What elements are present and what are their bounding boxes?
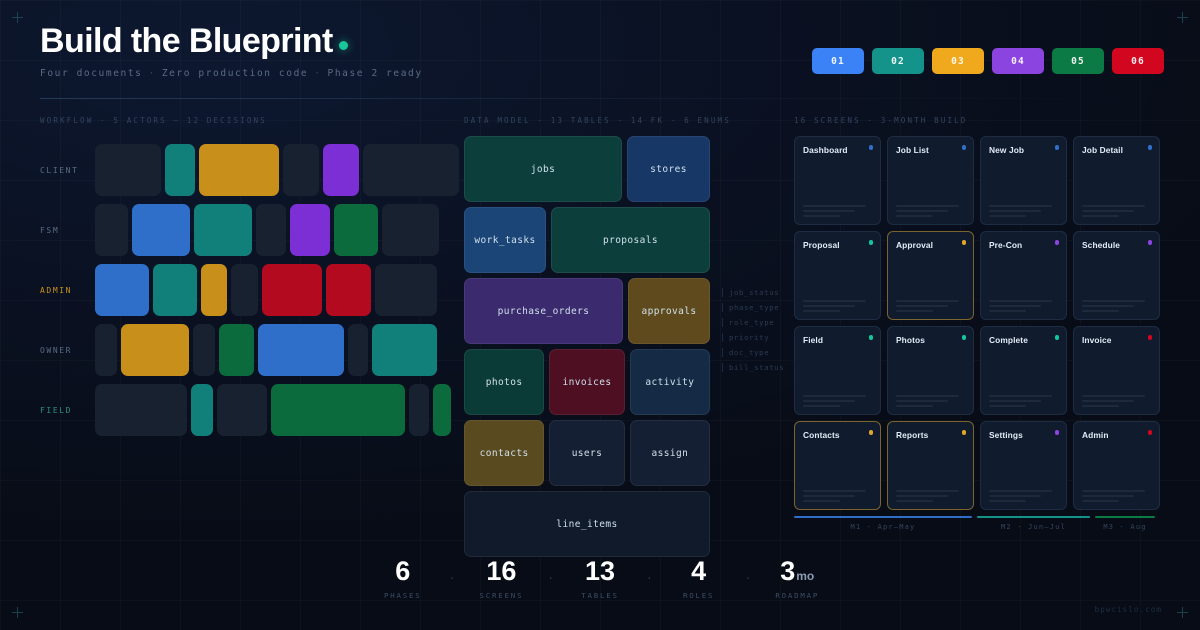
screen-card-photos[interactable]: Photos [887, 326, 974, 415]
status-dot-icon [1148, 240, 1153, 245]
skeleton-line [803, 405, 840, 407]
screen-card-title: Invoice [1082, 335, 1151, 345]
lane-step-block[interactable] [121, 324, 189, 376]
screen-card-schedule[interactable]: Schedule [1073, 231, 1160, 320]
poster-canvas: Build the Blueprint Four documents·Zero … [0, 0, 1200, 630]
stat-caption: PHASES [384, 591, 422, 600]
lane-gap-block [95, 144, 161, 196]
lane-label: ADMIN [40, 286, 95, 295]
stat-caption: ROADMAP [775, 591, 819, 600]
data-model-row: purchase_ordersapprovals [464, 278, 710, 344]
workflow-lane-admin: ADMIN [40, 260, 444, 320]
table-card-assign[interactable]: assign [630, 420, 710, 486]
skeleton-line [896, 310, 933, 312]
screen-card-skeleton [1082, 205, 1151, 217]
phase-chip-04[interactable]: 04 [992, 48, 1044, 74]
screen-card-new-job[interactable]: New Job [980, 136, 1067, 225]
corner-mark-top-right [1177, 12, 1188, 23]
screens-grid: DashboardJob ListNew JobJob DetailPropos… [794, 136, 1160, 510]
skeleton-line [989, 215, 1026, 217]
skeleton-line [1082, 215, 1119, 217]
screen-card-title: Job List [896, 145, 965, 155]
skeleton-line [803, 210, 855, 212]
stat-separator: · [646, 558, 653, 585]
skeleton-line [896, 205, 959, 207]
lane-step-block[interactable] [191, 384, 213, 436]
screen-card-skeleton [896, 490, 965, 502]
subtitle-separator: · [314, 68, 321, 79]
data-model-row: line_items [464, 491, 710, 557]
corner-mark-bottom-left [12, 607, 23, 618]
screen-card-complete[interactable]: Complete [980, 326, 1067, 415]
skeleton-line [896, 305, 948, 307]
enum-item-role_type: role_type [722, 318, 784, 327]
lane-step-block[interactable] [262, 264, 322, 316]
phase-chip-03[interactable]: 03 [932, 48, 984, 74]
screen-card-title: Dashboard [803, 145, 872, 155]
lane-step-block[interactable] [290, 204, 330, 256]
status-dot-icon [869, 240, 874, 245]
roadmap-timeline: M1 · Apr–MayM2 · Jun–JulM3 · Aug [794, 516, 1160, 531]
lane-track [95, 384, 451, 436]
workflow-section-caption: WORKFLOW · 5 ACTORS — 12 DECISIONS [40, 116, 267, 125]
skeleton-line [989, 305, 1041, 307]
screen-card-invoice[interactable]: Invoice [1073, 326, 1160, 415]
phase-chip-02[interactable]: 02 [872, 48, 924, 74]
screen-card-skeleton [896, 395, 965, 407]
subtitle-separator: · [148, 68, 155, 79]
skeleton-line [989, 395, 1052, 397]
skeleton-line [989, 210, 1041, 212]
skeleton-line [896, 495, 948, 497]
screen-card-skeleton [989, 490, 1058, 502]
phase-chip-05[interactable]: 05 [1052, 48, 1104, 74]
lane-step-block[interactable] [153, 264, 197, 316]
screen-card-title: Approval [896, 240, 965, 250]
status-dot-icon [1055, 430, 1060, 435]
skeleton-line [989, 495, 1041, 497]
screen-card-title: Complete [989, 335, 1058, 345]
skeleton-line [1082, 490, 1145, 492]
table-card-activity[interactable]: activity [630, 349, 710, 415]
lane-gap-block [348, 324, 368, 376]
data-model-row: jobsstores [464, 136, 710, 202]
lane-gap-block [382, 204, 439, 256]
stat-roles: 4ROLES [653, 558, 745, 600]
workflow-swimlanes: CLIENTFSMADMINOWNERFIELD [40, 140, 444, 440]
screen-card-skeleton [1082, 490, 1151, 502]
skeleton-line [896, 395, 959, 397]
status-dot-icon [1148, 335, 1153, 340]
screen-card-admin[interactable]: Admin [1073, 421, 1160, 510]
lane-gap-block [363, 144, 459, 196]
summary-stats: 6PHASES·16SCREENS·13TABLES·4ROLES·3moROA… [0, 558, 1200, 600]
screen-card-reports[interactable]: Reports [887, 421, 974, 510]
screen-card-title: Pre-Con [989, 240, 1058, 250]
screen-card-contacts[interactable]: Contacts [794, 421, 881, 510]
stat-roadmap: 3moROADMAP [751, 558, 843, 600]
table-card-work_tasks[interactable]: work_tasks [464, 207, 546, 273]
enum-item-priority: priority [722, 333, 784, 342]
skeleton-line [1082, 300, 1145, 302]
status-dot-icon [1148, 430, 1153, 435]
table-card-contacts[interactable]: contacts [464, 420, 544, 486]
screen-card-skeleton [803, 300, 872, 312]
timeline-bar [1095, 516, 1155, 518]
screens-section-caption: 16 SCREENS · 3-MONTH BUILD [794, 116, 967, 125]
stat-caption: ROLES [683, 591, 714, 600]
lane-step-block[interactable] [271, 384, 405, 436]
lane-step-block[interactable] [326, 264, 371, 316]
stat-value: 13 [585, 558, 615, 585]
table-card-approvals[interactable]: approvals [628, 278, 710, 344]
screen-card-job-list[interactable]: Job List [887, 136, 974, 225]
status-dot-icon [869, 145, 874, 150]
timeline-label: M2 · Jun–Jul [977, 523, 1090, 531]
table-card-purchase_orders[interactable]: purchase_orders [464, 278, 623, 344]
lane-label: FSM [40, 226, 95, 235]
skeleton-line [803, 310, 840, 312]
skeleton-line [989, 405, 1026, 407]
skeleton-line [989, 300, 1052, 302]
phase-chip-list: 010203040506 [812, 48, 1164, 74]
workflow-lane-client: CLIENT [40, 140, 444, 200]
stat-caption: TABLES [581, 591, 619, 600]
screen-card-title: Admin [1082, 430, 1151, 440]
skeleton-line [1082, 210, 1134, 212]
header-divider [40, 98, 1160, 99]
lane-gap-block [409, 384, 429, 436]
enum-item-phase_type: phase_type [722, 303, 784, 312]
timeline-bar [977, 516, 1090, 518]
watermark: bpwcislo.com [1095, 605, 1162, 614]
lane-step-block[interactable] [194, 204, 252, 256]
lane-gap-block [95, 324, 117, 376]
screen-card-skeleton [989, 395, 1058, 407]
table-card-photos[interactable]: photos [464, 349, 544, 415]
lane-gap-block [95, 204, 128, 256]
screen-card-job-detail[interactable]: Job Detail [1073, 136, 1160, 225]
lane-step-block[interactable] [201, 264, 227, 316]
screen-card-skeleton [989, 205, 1058, 217]
timeline-segment: M3 · Aug [1095, 516, 1155, 531]
data-model-row: photosinvoicesactivity [464, 349, 710, 415]
data-model-row: contactsusersassign [464, 420, 710, 486]
lane-label: OWNER [40, 346, 95, 355]
skeleton-line [1082, 405, 1119, 407]
status-dot-icon [1055, 145, 1060, 150]
skeleton-line [896, 300, 959, 302]
stat-caption: SCREENS [480, 591, 524, 600]
lane-step-block[interactable] [165, 144, 195, 196]
lane-label: FIELD [40, 406, 95, 415]
skeleton-line [1082, 205, 1145, 207]
lane-step-block[interactable] [433, 384, 451, 436]
screen-card-skeleton [896, 205, 965, 217]
lane-step-block[interactable] [219, 324, 254, 376]
phase-chip-01[interactable]: 01 [812, 48, 864, 74]
screen-card-title: Proposal [803, 240, 872, 250]
screen-card-title: Reports [896, 430, 965, 440]
stat-separator: · [449, 558, 456, 585]
lane-track [95, 144, 459, 196]
lane-step-block[interactable] [323, 144, 359, 196]
table-card-stores[interactable]: stores [627, 136, 710, 202]
lane-step-block[interactable] [132, 204, 190, 256]
status-dot-icon [869, 430, 874, 435]
screen-card-title: Field [803, 335, 872, 345]
skeleton-line [1082, 310, 1119, 312]
skeleton-line [1082, 395, 1145, 397]
skeleton-line [803, 215, 840, 217]
timeline-bar [794, 516, 972, 518]
lane-gap-block [283, 144, 319, 196]
page-subtitle: Four documents·Zero production code·Phas… [40, 68, 423, 79]
status-dot-icon [962, 335, 967, 340]
screen-card-pre-con[interactable]: Pre-Con [980, 231, 1067, 320]
screen-card-skeleton [1082, 395, 1151, 407]
datamodel-section-caption: DATA MODEL · 13 TABLES · 14 FK · 6 ENUMS [464, 116, 731, 125]
lane-step-block[interactable] [95, 264, 149, 316]
stat-screens: 16SCREENS [455, 558, 547, 600]
table-card-proposals[interactable]: proposals [551, 207, 710, 273]
skeleton-line [803, 400, 855, 402]
skeleton-line [896, 500, 933, 502]
lane-step-block[interactable] [199, 144, 279, 196]
enum-list: job_statusphase_typerole_typeprioritydoc… [722, 288, 784, 372]
skeleton-line [989, 310, 1026, 312]
skeleton-line [1082, 500, 1119, 502]
timeline-label: M3 · Aug [1095, 523, 1155, 531]
header: Build the Blueprint Four documents·Zero … [40, 24, 423, 79]
enum-item-job_status: job_status [722, 288, 784, 297]
accent-dot-icon [339, 41, 348, 50]
workflow-lane-fsm: FSM [40, 200, 444, 260]
lane-step-block[interactable] [258, 324, 344, 376]
lane-step-block[interactable] [334, 204, 378, 256]
screen-card-dashboard[interactable]: Dashboard [794, 136, 881, 225]
lane-track [95, 264, 444, 316]
screen-card-title: Contacts [803, 430, 872, 440]
status-dot-icon [1148, 145, 1153, 150]
screen-card-skeleton [896, 300, 965, 312]
screen-card-title: Schedule [1082, 240, 1151, 250]
stat-tables: 13TABLES [554, 558, 646, 600]
skeleton-line [896, 490, 959, 492]
subtitle-part: Phase 2 ready [328, 68, 423, 79]
lane-gap-block [256, 204, 286, 256]
screen-card-skeleton [803, 490, 872, 502]
screen-card-title: Job Detail [1082, 145, 1151, 155]
skeleton-line [896, 405, 933, 407]
skeleton-line [1082, 305, 1134, 307]
timeline-segment: M2 · Jun–Jul [977, 516, 1090, 531]
lane-track [95, 204, 444, 256]
screen-card-proposal[interactable]: Proposal [794, 231, 881, 320]
status-dot-icon [962, 145, 967, 150]
screen-card-field[interactable]: Field [794, 326, 881, 415]
stat-separator: · [547, 558, 554, 585]
skeleton-line [803, 495, 855, 497]
status-dot-icon [1055, 335, 1060, 340]
lane-label: CLIENT [40, 166, 95, 175]
table-card-invoices[interactable]: invoices [549, 349, 624, 415]
data-model-row: work_tasksproposals [464, 207, 710, 273]
skeleton-line [896, 215, 933, 217]
table-card-line_items[interactable]: line_items [464, 491, 710, 557]
status-dot-icon [1055, 240, 1060, 245]
lane-gap-block [231, 264, 258, 316]
skeleton-line [896, 400, 948, 402]
subtitle-part: Zero production code [162, 68, 308, 79]
stat-value: 6 [395, 558, 410, 585]
skeleton-line [989, 205, 1052, 207]
skeleton-line [803, 300, 866, 302]
workflow-lane-field: FIELD [40, 380, 444, 440]
status-dot-icon [962, 430, 967, 435]
data-model-grid: jobsstoreswork_tasksproposalspurchase_or… [464, 136, 710, 562]
stat-value: 4 [691, 558, 706, 585]
enum-item-doc_type: doc_type [722, 348, 784, 357]
timeline-segment: M1 · Apr–May [794, 516, 972, 531]
skeleton-line [989, 400, 1041, 402]
skeleton-line [803, 305, 855, 307]
skeleton-line [989, 500, 1026, 502]
table-card-users[interactable]: users [549, 420, 624, 486]
status-dot-icon [962, 240, 967, 245]
lane-step-block[interactable] [372, 324, 437, 376]
skeleton-line [803, 205, 866, 207]
workflow-lane-owner: OWNER [40, 320, 444, 380]
screen-card-skeleton [803, 205, 872, 217]
stat-value: 3mo [780, 558, 814, 585]
page-title-text: Build the Blueprint [40, 24, 333, 60]
timeline-label: M1 · Apr–May [794, 523, 972, 531]
status-dot-icon [869, 335, 874, 340]
skeleton-line [896, 210, 948, 212]
screen-card-approval[interactable]: Approval [887, 231, 974, 320]
screen-card-title: New Job [989, 145, 1058, 155]
stat-value: 16 [486, 558, 516, 585]
stat-separator: · [745, 558, 752, 585]
lane-gap-block [95, 384, 187, 436]
lane-gap-block [217, 384, 267, 436]
screen-card-skeleton [1082, 300, 1151, 312]
corner-mark-bottom-right [1177, 607, 1188, 618]
lane-gap-block [193, 324, 215, 376]
page-title: Build the Blueprint [40, 24, 423, 60]
stat-phases: 6PHASES [357, 558, 449, 600]
lane-track [95, 324, 444, 376]
enum-item-bill_status: bill_status [722, 363, 784, 372]
screen-card-title: Settings [989, 430, 1058, 440]
skeleton-line [989, 490, 1052, 492]
screen-card-skeleton [989, 300, 1058, 312]
skeleton-line [1082, 495, 1134, 497]
skeleton-line [803, 500, 840, 502]
phase-chip-06[interactable]: 06 [1112, 48, 1164, 74]
skeleton-line [803, 395, 866, 397]
screen-card-settings[interactable]: Settings [980, 421, 1067, 510]
skeleton-line [803, 490, 866, 492]
table-card-jobs[interactable]: jobs [464, 136, 622, 202]
subtitle-part: Four documents [40, 68, 142, 79]
screen-card-skeleton [803, 395, 872, 407]
skeleton-line [1082, 400, 1134, 402]
stat-unit: mo [796, 570, 814, 582]
corner-mark-top-left [12, 12, 23, 23]
screen-card-title: Photos [896, 335, 965, 345]
lane-gap-block [375, 264, 437, 316]
